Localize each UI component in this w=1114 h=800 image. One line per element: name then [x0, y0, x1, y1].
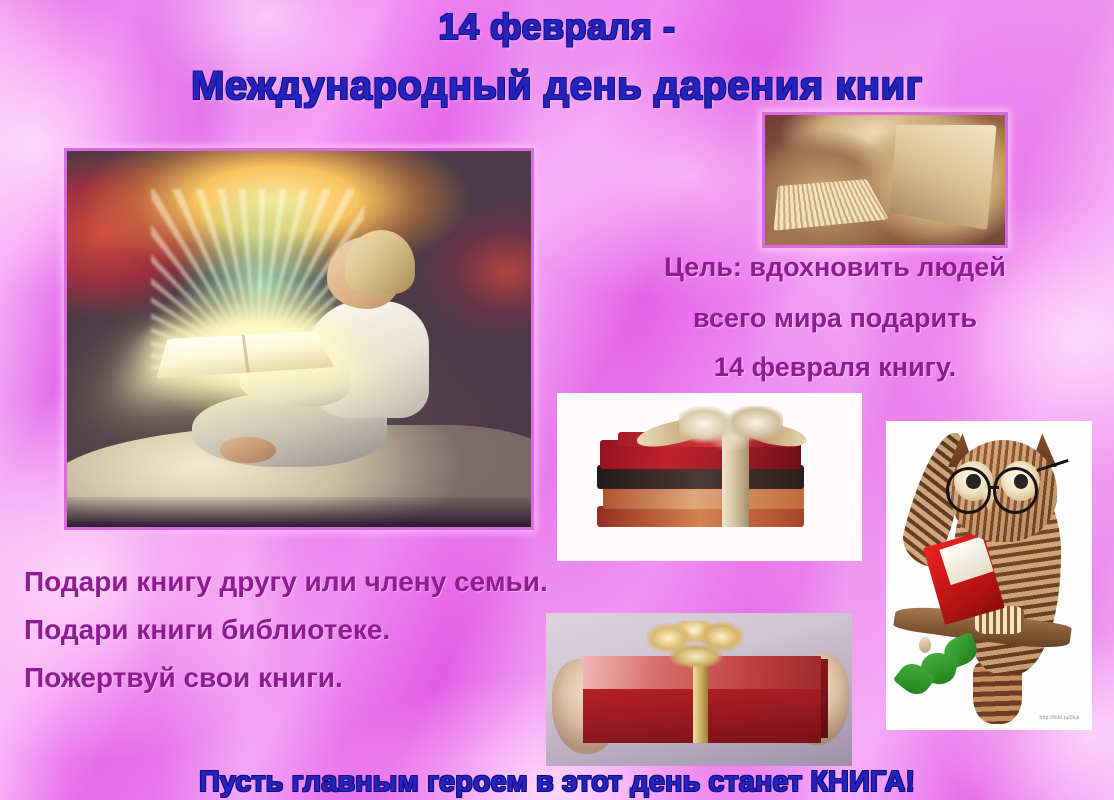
image-owl-reading-book: http://bibl.ru/illus — [886, 421, 1092, 730]
glasses-left-lens-shape — [946, 467, 991, 513]
poster-footer-text: Пусть главным героем в этот день станет … — [0, 766, 1114, 799]
acorn-shape — [919, 637, 931, 652]
goal-line-3: 14 февраля книгу. — [600, 352, 1070, 383]
bow-center-shape — [679, 406, 783, 450]
gold-bow-shape — [647, 621, 745, 670]
poster-title-line-1: 14 февраля - — [0, 6, 1114, 48]
book-spine-shape — [242, 335, 250, 373]
poster-canvas: 14 февраля - Международный день дарения … — [0, 0, 1114, 800]
book-stack-dark-shape — [597, 465, 804, 489]
action-line-1: Подари книгу другу или члену семьи. — [24, 566, 548, 598]
poster-title-line-2: Международный день дарения книг — [0, 64, 1114, 109]
boy-hair-shape — [345, 230, 415, 294]
image-gift-wrapped-books — [557, 393, 862, 561]
bed-shadow-shape — [67, 497, 531, 527]
glasses-bridge-shape — [989, 486, 999, 489]
image-credit-watermark: http://bibl.ru/illus — [1040, 715, 1080, 721]
action-line-2: Подари книги библиотеке. — [24, 614, 390, 646]
boy-foot-shape — [220, 437, 276, 463]
book-right-page-shape — [890, 125, 996, 231]
action-line-3: Пожертвуй свои книги. — [24, 662, 343, 694]
image-red-gift-box — [546, 613, 852, 766]
glasses-right-lens-shape — [993, 467, 1038, 513]
goal-line-2: всего мира подарить — [600, 303, 1070, 334]
image-open-antique-book — [762, 112, 1008, 248]
image-boy-reading-glowing-book — [64, 148, 534, 530]
goal-line-1: Цель: вдохновить людей — [600, 252, 1070, 283]
book-stack-tan-shape — [603, 485, 804, 509]
